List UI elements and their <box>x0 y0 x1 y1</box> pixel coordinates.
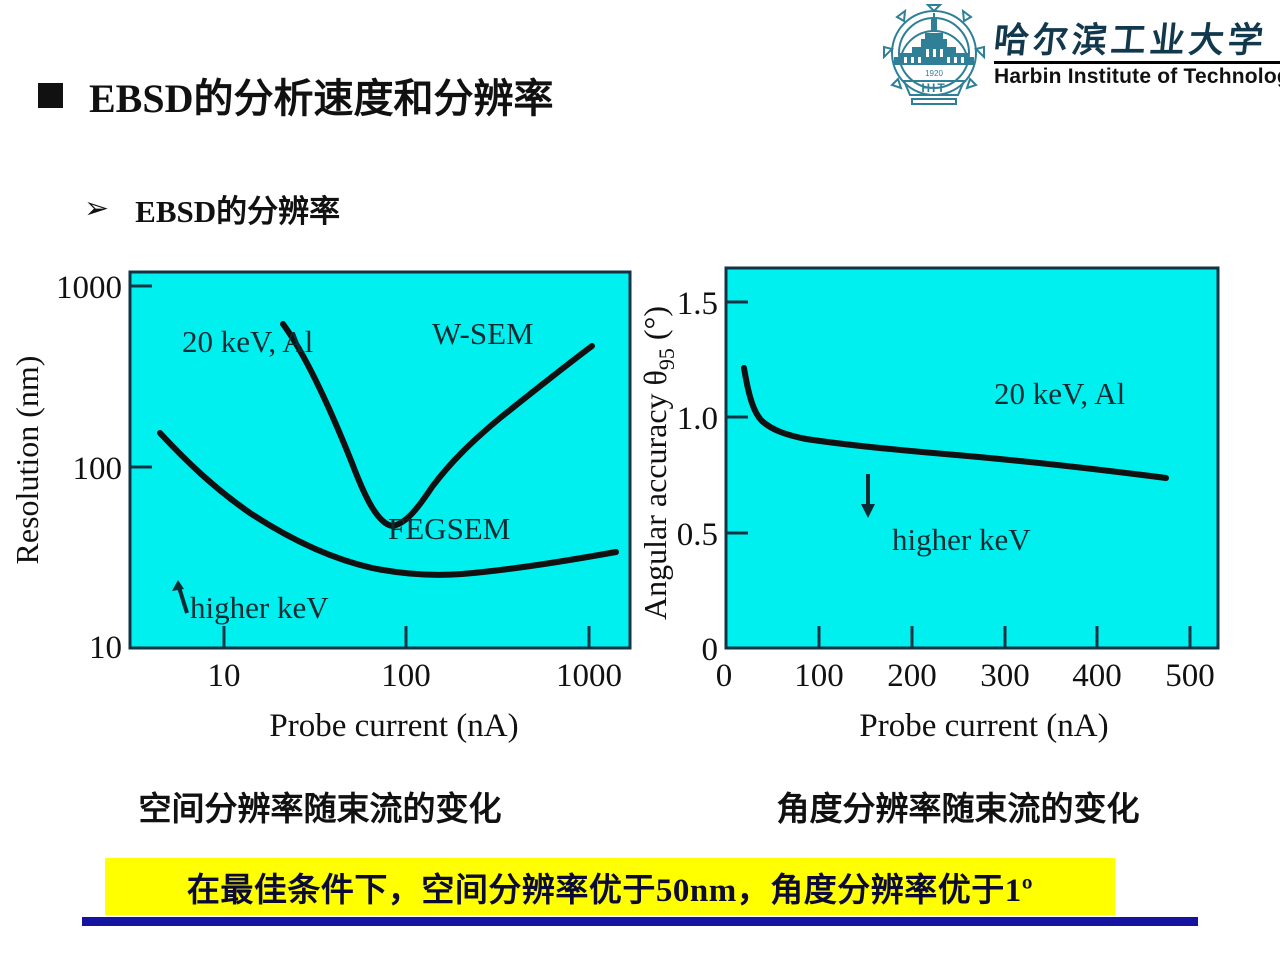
svg-text:Angular accuracy θ95 (°): Angular accuracy θ95 (°) <box>637 306 679 620</box>
svg-text:10: 10 <box>208 658 241 694</box>
chart-spatial-resolution: 1000 100 10 10 100 1000 Resolution (nm) … <box>0 258 640 758</box>
annotation-higher-kev: higher keV <box>892 522 1031 557</box>
svg-text:1.0: 1.0 <box>677 401 718 437</box>
summary-banner-text: 在最佳条件下，空间分辨率优于50nm，角度分辨率优于1º <box>187 863 1033 911</box>
logo-text-block: 哈尔滨工业大学 Harbin Institute of Technology <box>994 21 1280 88</box>
svg-text:1000: 1000 <box>556 658 622 694</box>
logo-chinese-name: 哈尔滨工业大学 <box>992 23 1280 58</box>
svg-text:100: 100 <box>381 658 431 694</box>
hit-logo: 1920 HIT 哈尔滨工业大学 Harbin Institute of Tec… <box>878 2 1278 108</box>
y-axis-label: Resolution (nm) <box>9 356 45 565</box>
x-axis-tick-labels: 0 100 200 300 400 500 <box>716 658 1215 694</box>
emblem-year-text: 1920 <box>925 69 943 78</box>
annotation-beam-condition: 20 keV, Al <box>182 324 313 359</box>
x-axis-tick-labels: 10 100 1000 <box>208 658 623 694</box>
svg-text:500: 500 <box>1165 658 1215 694</box>
chart-angular-accuracy: 1.5 1.0 0.5 0 0 100 200 300 400 500 <box>636 258 1280 758</box>
annotation-fegsem-label: FEGSEM <box>388 511 510 546</box>
y-axis-label: Angular accuracy θ95 (°) <box>637 306 679 620</box>
caption-right: 角度分辨率随束流的变化 <box>636 782 1280 830</box>
section-subtitle: ➢ EBSD的分辨率 <box>84 186 340 231</box>
annotation-w-sem-label: W-SEM <box>432 316 534 351</box>
svg-text:1000: 1000 <box>56 270 122 306</box>
y-axis-tick-labels: 1.5 1.0 0.5 0 <box>677 286 718 668</box>
annotation-beam-condition: 20 keV, Al <box>994 376 1125 411</box>
svg-text:0: 0 <box>716 658 733 694</box>
svg-text:100: 100 <box>73 451 123 487</box>
svg-text:10: 10 <box>89 630 122 666</box>
svg-text:300: 300 <box>980 658 1030 694</box>
page-title: EBSD的分析速度和分辨率 <box>38 66 554 124</box>
hit-emblem-icon: 1920 HIT <box>878 3 990 107</box>
svg-text:0.5: 0.5 <box>677 517 718 553</box>
caption-left: 空间分辨率随束流的变化 <box>0 782 640 830</box>
logo-english-name: Harbin Institute of Technology <box>994 66 1280 88</box>
section-subtitle-text: EBSD的分辨率 <box>135 186 340 231</box>
svg-text:100: 100 <box>794 658 844 694</box>
svg-text:200: 200 <box>887 658 937 694</box>
summary-banner: 在最佳条件下，空间分辨率优于50nm，角度分辨率优于1º <box>105 858 1115 915</box>
annotation-higher-kev: higher keV <box>190 590 329 625</box>
y-axis-tick-labels: 1000 100 10 <box>56 270 122 666</box>
x-axis-label: Probe current (nA) <box>859 708 1108 744</box>
arrow-bullet-icon: ➢ <box>84 194 109 224</box>
square-bullet-icon <box>38 83 63 108</box>
page-title-text: EBSD的分析速度和分辨率 <box>89 66 554 124</box>
emblem-abbr-text: HIT <box>921 81 946 95</box>
x-axis-label: Probe current (nA) <box>269 708 518 744</box>
svg-text:400: 400 <box>1072 658 1122 694</box>
svg-text:1.5: 1.5 <box>677 286 718 322</box>
summary-banner-underline <box>82 917 1198 926</box>
slide-root: 1920 HIT 哈尔滨工业大学 Harbin Institute of Tec… <box>0 0 1280 960</box>
logo-divider <box>994 61 1280 64</box>
